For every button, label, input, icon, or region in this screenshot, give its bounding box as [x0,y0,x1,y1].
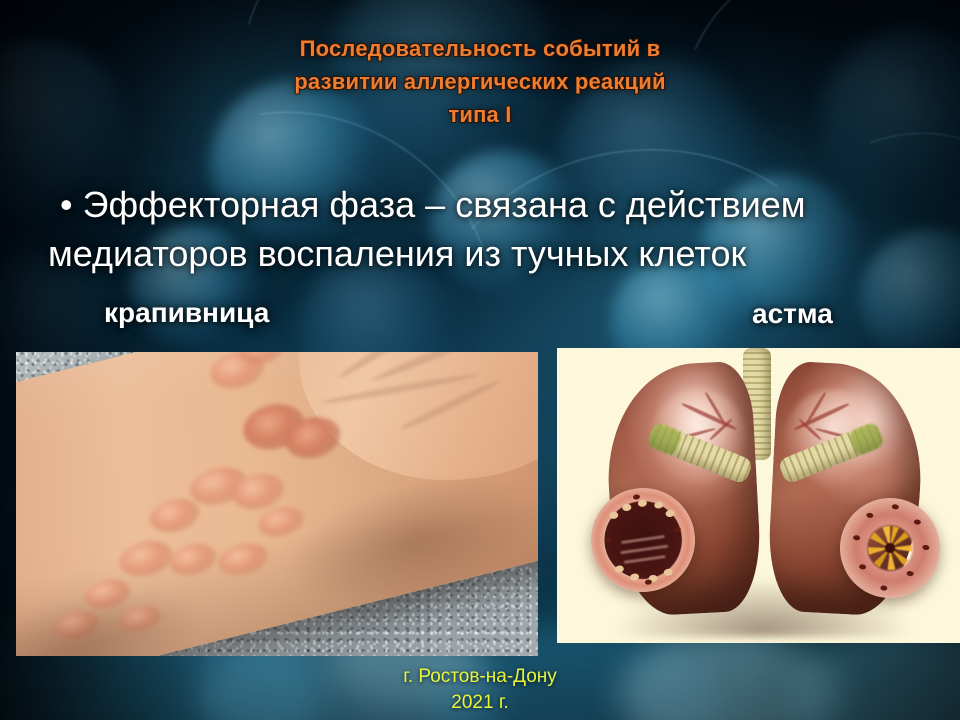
slide-footer: г. Ростов-на-Дону 2021 г. [0,664,960,716]
title-line-2: развитии аллергических реакций [0,65,960,98]
slide-title: Последовательность событий в развитии ал… [0,32,960,131]
asthma-lungs-illustration [557,348,960,643]
footer-city: г. Ростов-на-Дону [0,664,960,690]
title-line-1: Последовательность событий в [0,32,960,65]
footer-year: 2021 г. [0,690,960,716]
caption-urticaria: крапивница [104,297,269,329]
title-line-3: типа I [0,98,960,131]
slide-body-text: • Эффекторная фаза – связана с действием… [48,180,928,278]
body-line-2: медиаторов воспаления из тучных клеток [48,229,928,278]
urticaria-photo [16,352,538,656]
mucus-plug [865,523,915,573]
body-line-1: • Эффекторная фаза – связана с действием [48,180,928,229]
caption-asthma: астма [752,298,833,330]
lungs-shadow [597,567,930,637]
presentation-slide: Последовательность событий в развитии ал… [0,0,960,720]
